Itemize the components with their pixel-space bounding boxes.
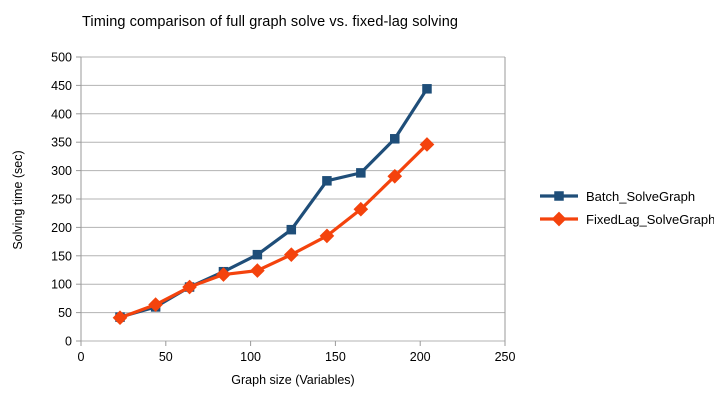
- y-tick-label: 400: [51, 107, 72, 121]
- y-axis-title: Solving time (sec): [11, 150, 25, 249]
- x-tick-label: 150: [325, 350, 346, 364]
- data-point-marker: [287, 225, 296, 234]
- y-tick-label: 450: [51, 79, 72, 93]
- x-axis-title-group: Graph size (Variables): [231, 373, 354, 387]
- x-tick-label: 250: [495, 350, 516, 364]
- y-tick-label: 200: [51, 221, 72, 235]
- y-axis: 050100150200250300350400450500: [51, 51, 81, 349]
- y-tick-label: 150: [51, 249, 72, 263]
- x-axis-title: Graph size (Variables): [231, 373, 354, 387]
- x-axis: 050100150200250: [78, 341, 516, 364]
- chart-plot-area: 050100150200250300350400450500 050100150…: [0, 0, 714, 406]
- y-tick-label: 300: [51, 164, 72, 178]
- data-point-marker: [323, 177, 332, 186]
- data-series-group: [113, 85, 433, 325]
- y-tick-label: 100: [51, 278, 72, 292]
- y-tick-label: 250: [51, 193, 72, 207]
- series-batch: [116, 85, 431, 322]
- y-tick-label: 50: [58, 306, 72, 320]
- chart-legend: Batch_SolveGraphFixedLag_SolveGraph: [540, 189, 714, 227]
- data-point-marker: [285, 248, 298, 261]
- y-tick-label: 0: [65, 335, 72, 349]
- data-point-marker: [357, 169, 366, 178]
- x-tick-label: 50: [159, 350, 173, 364]
- x-tick-label: 100: [240, 350, 261, 364]
- legend-label: Batch_SolveGraph: [586, 189, 695, 204]
- series-line: [120, 89, 427, 317]
- data-point-marker: [251, 264, 264, 277]
- data-point-marker: [253, 250, 262, 259]
- legend-item-batch[interactable]: Batch_SolveGraph: [540, 189, 695, 204]
- data-point-marker: [423, 85, 432, 94]
- data-point-marker: [552, 212, 565, 225]
- y-axis-title-group: Solving time (sec): [11, 150, 25, 249]
- legend-label: FixedLag_SolveGraph: [586, 212, 714, 227]
- y-tick-label: 350: [51, 136, 72, 150]
- y-tick-label: 500: [51, 51, 72, 65]
- gridlines: [81, 57, 505, 341]
- x-tick-label: 200: [410, 350, 431, 364]
- series-fixedlag: [113, 138, 433, 325]
- x-tick-label: 0: [78, 350, 85, 364]
- data-point-marker: [391, 135, 400, 144]
- chart-container: Timing comparison of full graph solve vs…: [0, 0, 714, 406]
- legend-item-fixedlag[interactable]: FixedLag_SolveGraph: [540, 212, 714, 227]
- data-point-marker: [555, 192, 564, 201]
